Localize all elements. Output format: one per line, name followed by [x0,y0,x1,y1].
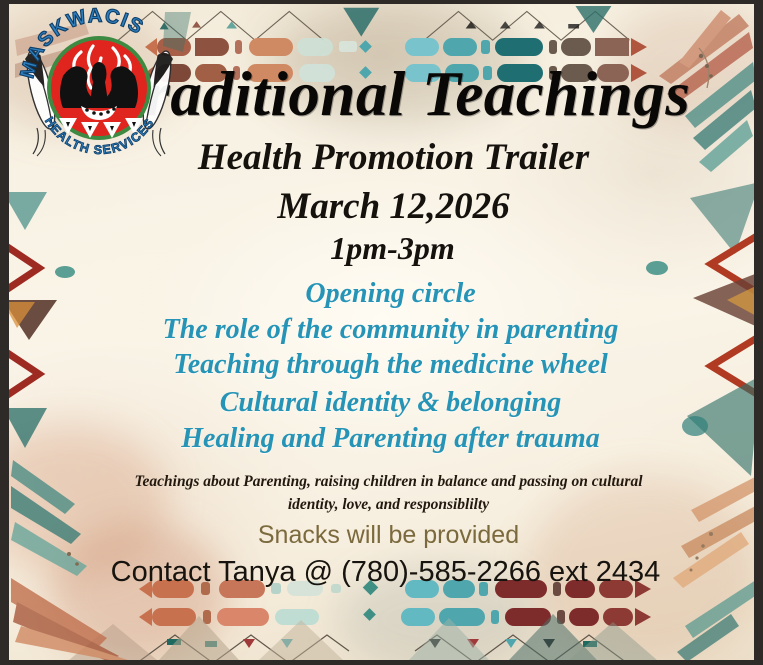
bottom-zigzag-outline [9,632,754,660]
event-time: 1pm-3pm [9,230,754,267]
poster-description: Teachings about Parenting, raising child… [9,470,754,517]
topic-item: Teaching through the medicine wheel [9,349,754,381]
poster-root: MASKWACIS HEALTH SERVICES Traditional Te… [0,0,763,665]
topic-item: Cultural identity & belonging [9,387,754,419]
logo-graphic: MASKWACIS HEALTH SERVICES [15,6,183,166]
mountain-silhouettes [9,610,754,660]
topic-item: Opening circle [9,278,754,310]
topic-item: The role of the community in parenting [9,314,754,346]
contact-info: Contact Tanya @ (780)-585-2266 ext 2434 [9,556,754,589]
maskwacis-health-services-logo: MASKWACIS HEALTH SERVICES [15,6,183,166]
event-date: March 12,2026 [9,185,754,228]
topic-item: Healing and Parenting after trauma [9,423,754,455]
snacks-note: Snacks will be provided [9,521,754,550]
poster-paper-background: MASKWACIS HEALTH SERVICES Traditional Te… [9,4,754,660]
